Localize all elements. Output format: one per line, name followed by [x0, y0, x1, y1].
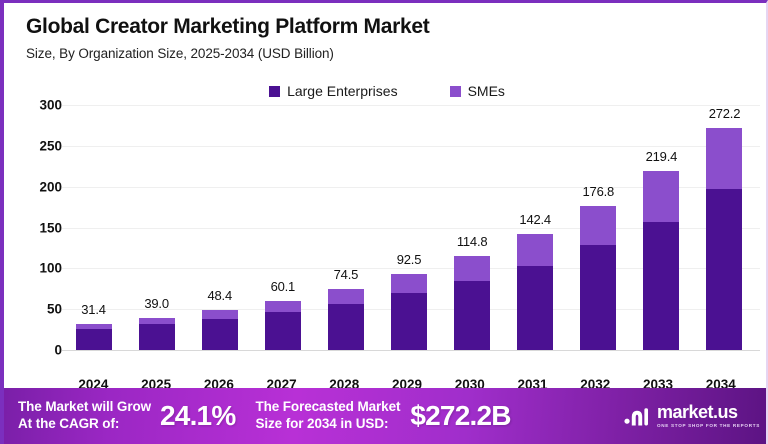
bar-column[interactable]: 48.4: [188, 75, 251, 350]
forecast-value: $272.2B: [410, 400, 510, 432]
bar-value-label: 272.2: [693, 106, 756, 121]
bar-value-label: 114.8: [441, 234, 504, 249]
bar-segment-smes[interactable]: [517, 234, 553, 267]
bar-column[interactable]: 92.5: [377, 75, 440, 350]
x-axis-line: [62, 350, 760, 351]
bar-segment-large-enterprises[interactable]: [76, 329, 112, 350]
bar-group: 31.439.048.460.174.592.5114.8142.4176.82…: [62, 75, 756, 350]
forecast-block: The Forecasted Market Size for 2034 in U…: [255, 399, 510, 433]
forecast-caption-line2: Size for 2034 in USD:: [255, 416, 400, 433]
page-title: Global Creator Marketing Platform Market: [26, 15, 766, 39]
bar-segment-large-enterprises[interactable]: [706, 189, 742, 350]
bar-value-label: 39.0: [125, 296, 188, 311]
bar-value-label: 219.4: [630, 149, 693, 164]
stacked-bar[interactable]: [202, 310, 238, 350]
bar-segment-large-enterprises[interactable]: [328, 304, 364, 350]
bar-segment-large-enterprises[interactable]: [517, 266, 553, 350]
brand-logo: market.us ONE STOP SHOP FOR THE REPORTS: [623, 403, 760, 429]
market-us-logo-icon: [623, 403, 651, 429]
bar-value-label: 48.4: [188, 288, 251, 303]
stacked-bar[interactable]: [643, 171, 679, 350]
y-axis-tick-label: 300: [18, 98, 62, 113]
bar-column[interactable]: 114.8: [441, 75, 504, 350]
summary-banner: The Market will Grow At the CAGR of: 24.…: [4, 388, 768, 444]
logo-tagline: ONE STOP SHOP FOR THE REPORTS: [657, 424, 760, 429]
chart-subtitle: Size, By Organization Size, 2025-2034 (U…: [26, 46, 766, 61]
y-axis-tick-label: 0: [18, 343, 62, 358]
bar-column[interactable]: 272.2: [693, 75, 756, 350]
bar-segment-smes[interactable]: [391, 274, 427, 293]
stacked-bar[interactable]: [454, 256, 490, 350]
stacked-bar[interactable]: [76, 324, 112, 350]
bar-column[interactable]: 39.0: [125, 75, 188, 350]
bar-segment-large-enterprises[interactable]: [643, 222, 679, 350]
cagr-caption: The Market will Grow At the CAGR of:: [18, 399, 151, 433]
bar-segment-large-enterprises[interactable]: [139, 324, 175, 350]
logo-name: market.us: [657, 403, 760, 421]
bar-segment-smes[interactable]: [643, 171, 679, 222]
bar-column[interactable]: 219.4: [630, 75, 693, 350]
chart-plot-area: 050100150200250300 31.439.048.460.174.59…: [4, 75, 768, 375]
bar-segment-large-enterprises[interactable]: [454, 281, 490, 350]
bar-value-label: 92.5: [377, 252, 440, 267]
stacked-bar[interactable]: [391, 274, 427, 350]
logo-text: market.us ONE STOP SHOP FOR THE REPORTS: [657, 403, 760, 429]
stacked-bar[interactable]: [265, 301, 301, 350]
bar-value-label: 31.4: [62, 302, 125, 317]
bar-value-label: 142.4: [504, 212, 567, 227]
bar-column[interactable]: 60.1: [251, 75, 314, 350]
bar-segment-smes[interactable]: [706, 128, 742, 189]
y-axis-tick-label: 250: [18, 138, 62, 153]
y-axis-tick-label: 100: [18, 261, 62, 276]
bar-segment-large-enterprises[interactable]: [391, 293, 427, 350]
bar-column[interactable]: 142.4: [504, 75, 567, 350]
bar-segment-smes[interactable]: [265, 301, 301, 312]
bar-segment-large-enterprises[interactable]: [202, 319, 238, 350]
bar-segment-smes[interactable]: [580, 206, 616, 245]
bar-segment-large-enterprises[interactable]: [580, 245, 616, 350]
chart-card: Global Creator Marketing Platform Market…: [0, 0, 768, 444]
cagr-caption-line2: At the CAGR of:: [18, 416, 151, 433]
bar-column[interactable]: 176.8: [567, 75, 630, 350]
bar-value-label: 60.1: [251, 279, 314, 294]
cagr-block: The Market will Grow At the CAGR of: 24.…: [18, 399, 235, 433]
y-axis-tick-label: 50: [18, 302, 62, 317]
bar-segment-smes[interactable]: [202, 310, 238, 318]
y-axis-tick-label: 150: [18, 220, 62, 235]
forecast-caption-line1: The Forecasted Market: [255, 399, 400, 416]
stacked-bar[interactable]: [517, 234, 553, 350]
stacked-bar[interactable]: [328, 289, 364, 350]
bar-segment-large-enterprises[interactable]: [265, 312, 301, 350]
stacked-bar[interactable]: [139, 318, 175, 350]
bar-value-label: 74.5: [314, 267, 377, 282]
y-axis-ticks: 050100150200250300: [12, 75, 62, 375]
cagr-value: 24.1%: [160, 400, 235, 432]
chart-header: Global Creator Marketing Platform Market…: [4, 3, 766, 61]
y-axis-tick-label: 200: [18, 179, 62, 194]
bar-value-label: 176.8: [567, 184, 630, 199]
bar-column[interactable]: 74.5: [314, 75, 377, 350]
bar-column[interactable]: 31.4: [62, 75, 125, 350]
stacked-bar[interactable]: [580, 206, 616, 350]
forecast-caption: The Forecasted Market Size for 2034 in U…: [255, 399, 400, 433]
bar-segment-smes[interactable]: [328, 289, 364, 304]
cagr-caption-line1: The Market will Grow: [18, 399, 151, 416]
stacked-bar[interactable]: [706, 128, 742, 350]
bar-segment-smes[interactable]: [454, 256, 490, 281]
